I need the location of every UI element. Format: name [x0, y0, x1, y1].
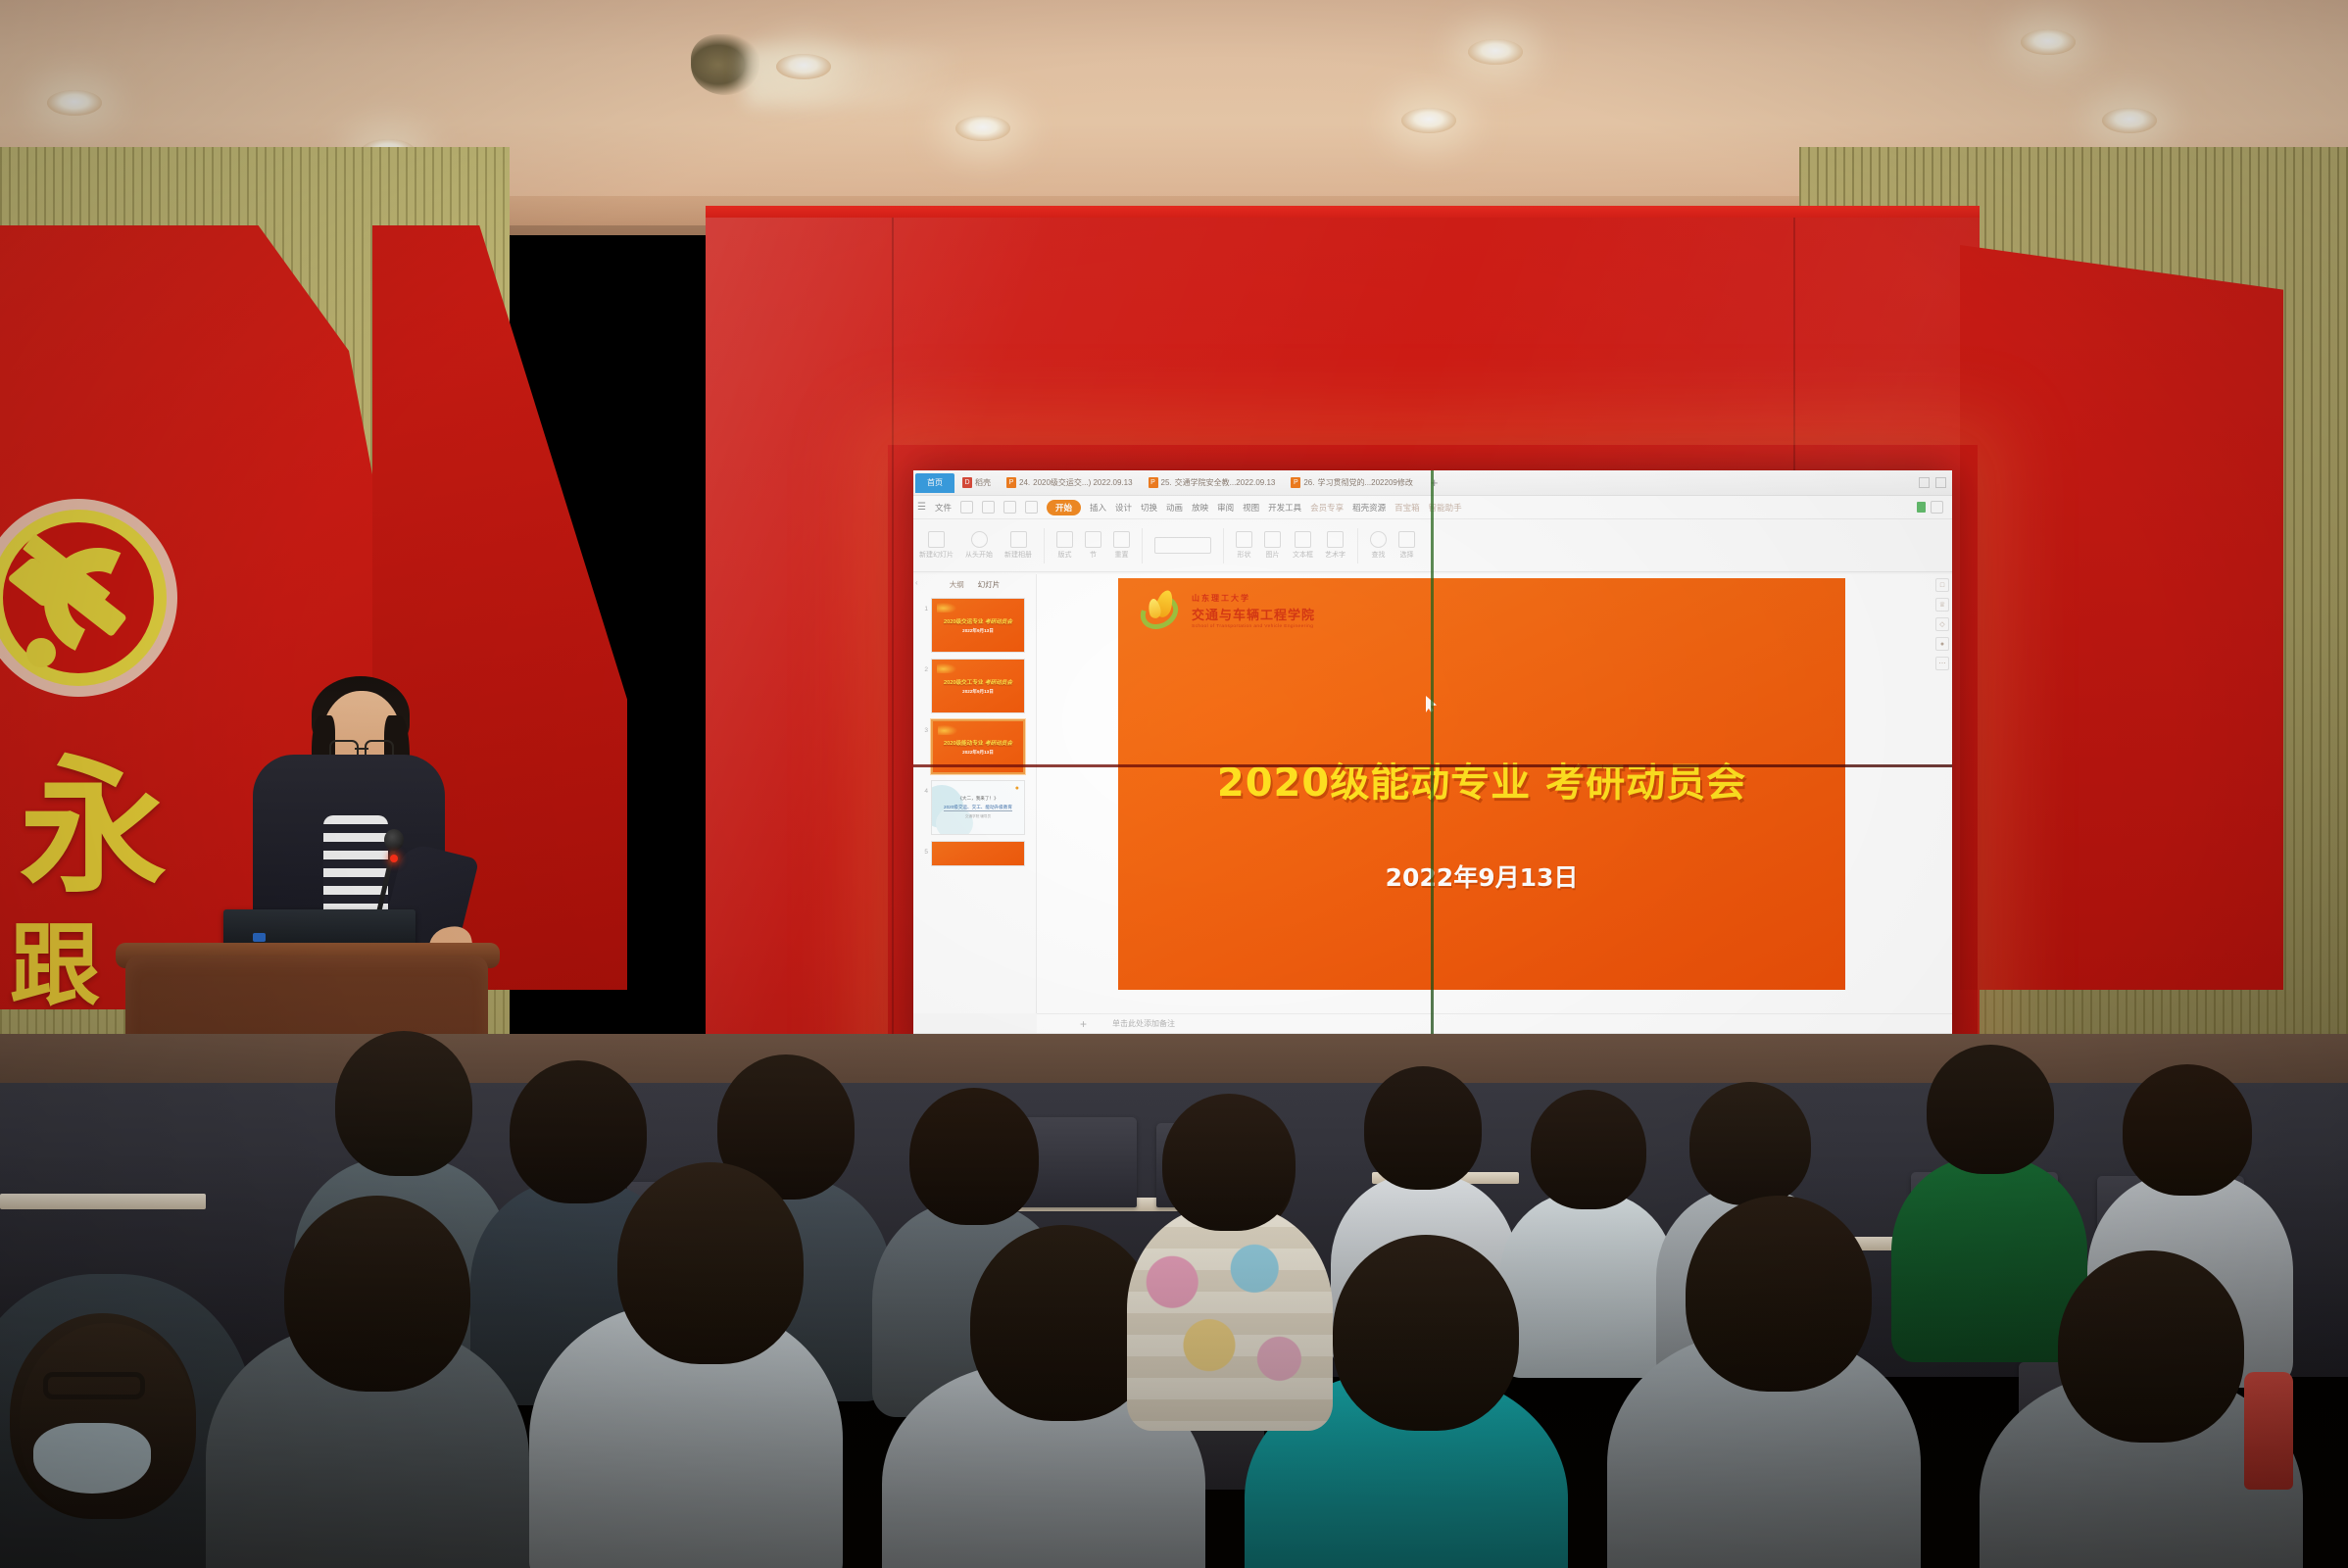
ribbon-label: 版式 — [1058, 550, 1072, 560]
right-tool-rail: □ ♕ ◇ ● ⋯ — [1935, 578, 1949, 670]
audience-torso — [1499, 1192, 1676, 1378]
new-tab-button[interactable]: + — [1421, 475, 1448, 490]
tab-title: 2020级交运交...) 2022.09.13 — [1033, 477, 1132, 488]
thumbnail-line-2: 2020级交运、交工、能动升级教育 — [944, 805, 1012, 811]
menu-tab-slideshow[interactable]: 放映 — [1192, 502, 1208, 514]
window-controls — [1919, 477, 1952, 488]
thumbnail-title: 2020级能动专业 考研动员会 — [944, 739, 1012, 747]
audience-head — [1689, 1082, 1811, 1205]
menu-tab-design[interactable]: 设计 — [1115, 502, 1132, 514]
undo-icon[interactable] — [982, 501, 995, 514]
add-note-button[interactable]: + — [1080, 1017, 1087, 1031]
ribbon-label: 图片 — [1266, 550, 1280, 560]
logo-text-block: 山东理工大学 交通与车辆工程学院 School of Transportatio… — [1192, 593, 1315, 629]
ribbon-group-select[interactable]: 选择 — [1398, 531, 1415, 560]
ribbon-divider — [1357, 528, 1358, 563]
ribbon-group-layout[interactable]: 版式 — [1056, 531, 1073, 560]
ribbon-group-wordart[interactable]: 艺术字 — [1325, 531, 1345, 560]
thumbnail-date: 2022年9月13日 — [962, 628, 994, 634]
thumbnail-item[interactable]: 2 2020级交工专业 考研动员会 2022年9月13日 — [913, 656, 1036, 716]
laptop-screen-glow — [253, 933, 266, 942]
slide-date-text[interactable]: 2022年9月13日 — [1118, 858, 1845, 894]
thumbnail-line-1: 《大二，我来了！》 — [957, 796, 998, 802]
slide-thumbnail[interactable] — [931, 841, 1025, 866]
menu-tab-animation[interactable]: 动画 — [1166, 502, 1183, 514]
desk-row-edge — [0, 1194, 206, 1209]
ppt-file-icon: P — [1006, 477, 1016, 488]
thumbnail-title-main: 2020级交运专业 — [944, 619, 983, 625]
new-slide-icon — [928, 531, 945, 548]
audience-torso — [1891, 1156, 2087, 1362]
tab-number: 26. — [1303, 478, 1314, 487]
slide-thumbnail[interactable]: 2020级交运专业 考研动员会 2022年9月13日 — [931, 598, 1025, 653]
menu-file[interactable]: 文件 — [935, 502, 952, 514]
thumbnail-pane-tabs: 大纲 幻灯片 — [913, 576, 1036, 595]
school-name-cn: 交通与车辆工程学院 — [1192, 605, 1315, 623]
audience-head-front — [2058, 1250, 2244, 1443]
thumbnail-line-3: 交通学院 辅导员 — [965, 814, 991, 819]
menu-tab-member[interactable]: 会员专享 — [1310, 502, 1344, 514]
thumbnail-item[interactable]: 4 ● 《大二，我来了！》 2020级交运、交工、能动升级教育 交通学院 辅导员 — [913, 777, 1036, 838]
downlight-icon — [2021, 29, 2076, 55]
select-icon — [1398, 531, 1415, 548]
ppt-file-icon: P — [1291, 477, 1300, 488]
ribbon-label: 文本框 — [1293, 550, 1313, 560]
slide-editor-canvas[interactable]: 山东理工大学 交通与车辆工程学院 School of Transportatio… — [1037, 574, 1952, 1013]
sickle-handle-shape — [26, 638, 56, 667]
thumbnail-number: 2 — [922, 659, 928, 673]
wps-document-tab[interactable]: P 24. 2020级交运交...) 2022.09.13 — [999, 472, 1141, 494]
slide-thumbnail-pane[interactable]: ‹ 大纲 幻灯片 1 2020级交运专业 考研动员会 — [913, 574, 1037, 1013]
torch-ring-logo-icon — [1140, 590, 1187, 631]
shield-icon[interactable] — [1917, 502, 1926, 513]
ribbon-divider — [1142, 528, 1143, 563]
slide-thumbnail[interactable]: ● 《大二，我来了！》 2020级交运、交工、能动升级教育 交通学院 辅导员 — [931, 780, 1025, 835]
audience-head — [1364, 1066, 1482, 1190]
audience-glasses — [43, 1372, 145, 1399]
tab-slides[interactable]: 幻灯片 — [978, 579, 1001, 590]
lecture-hall-photo: 永 跟 首页 D 稻壳 P 24. 2020级交运交...) 2022.09.1… — [0, 0, 2348, 1568]
thumbnail-title-em: 考研动员会 — [985, 741, 1012, 747]
docer-icon: D — [962, 477, 972, 488]
thumbnail-item[interactable]: 5 — [913, 838, 1036, 869]
menu-tab-home[interactable]: 开始 — [1047, 500, 1081, 515]
audience-head-front — [1333, 1235, 1519, 1431]
ribbon-group-from-start[interactable]: 从头开始 — [965, 531, 993, 560]
downlight-icon — [1401, 108, 1456, 133]
downlight-icon — [2102, 108, 2157, 133]
print-preview-icon[interactable] — [1025, 501, 1038, 514]
more-tools-icon[interactable]: ⋯ — [1935, 657, 1949, 670]
menu-tab-transition[interactable]: 切换 — [1141, 502, 1157, 514]
audience-head — [1927, 1045, 2054, 1174]
collapse-pane-icon[interactable]: ‹ — [915, 578, 918, 587]
screen-surface: 首页 D 稻壳 P 24. 2020级交运交...) 2022.09.13 P … — [913, 470, 1952, 1058]
ribbon-group-new-slide[interactable]: 新建幻灯片 — [919, 531, 954, 560]
audience-head — [909, 1088, 1039, 1225]
tab-title: 学习贯彻党的...202209修改 — [1317, 477, 1412, 488]
ribbon-label: 节 — [1090, 550, 1097, 560]
menubar-right-cluster — [1917, 501, 1948, 514]
maximize-icon[interactable] — [1935, 477, 1946, 488]
thumbnail-date: 2022年9月13日 — [962, 750, 994, 756]
school-logo-icon — [938, 724, 959, 735]
thumbnail-item-selected[interactable]: 3 2020级能动专业 考研动员会 2022年9月13日 — [913, 716, 1036, 777]
audience-head-front — [1686, 1196, 1872, 1392]
ribbon-divider — [1223, 528, 1224, 563]
audience-head — [510, 1060, 647, 1203]
menu-tab-view[interactable]: 视图 — [1243, 502, 1259, 514]
wps-home-tab[interactable]: 首页 — [915, 473, 954, 493]
wall-seam — [892, 218, 894, 1139]
crown-member-icon[interactable]: ♕ — [1935, 598, 1949, 612]
audience-head-front — [284, 1196, 470, 1392]
ribbon-label: 形状 — [1238, 550, 1251, 560]
ribbon-label: 艺术字 — [1325, 550, 1345, 560]
menu-tab-docer[interactable]: 稻壳资源 — [1352, 502, 1386, 514]
wps-brand-tab[interactable]: D 稻壳 — [954, 472, 999, 494]
thumbnail-title-em: 考研动员会 — [985, 619, 1012, 625]
thumbnail-title: 2020级交运专业 考研动员会 — [944, 617, 1012, 625]
color-pane-icon[interactable]: ● — [1935, 637, 1949, 651]
thumbnail-number: 1 — [922, 598, 928, 612]
picture-icon — [1264, 531, 1281, 548]
ribbon-label: 新建幻灯片 — [919, 550, 954, 560]
school-logo-icon: ● — [1015, 785, 1019, 792]
audience-head — [1162, 1094, 1296, 1231]
thumbnail-title-main: 2020级能动专业 — [944, 741, 983, 747]
tab-title: 交通学院安全教...2022.09.13 — [1175, 477, 1276, 488]
downlight-icon — [955, 116, 1010, 141]
glasses-bridge — [355, 748, 368, 750]
microphone-icon — [384, 829, 404, 851]
ribbon-group-textbox[interactable]: 文本框 — [1293, 531, 1313, 560]
menu-tab-review[interactable]: 审阅 — [1217, 502, 1234, 514]
audience-head-front — [617, 1162, 804, 1364]
ribbon-group-new-album[interactable]: 新建相册 — [1004, 531, 1032, 560]
ribbon-label: 重置 — [1115, 550, 1129, 560]
school-logo-icon — [937, 602, 958, 612]
downlight-icon — [776, 54, 831, 79]
thumbnail-number: 4 — [922, 780, 928, 795]
thumbnail-date: 2022年9月13日 — [962, 689, 994, 695]
downlight-icon — [47, 90, 102, 116]
section-icon — [1085, 531, 1101, 548]
play-icon — [971, 531, 988, 548]
red-wall-right-wing — [1960, 245, 2283, 990]
thumbnail-item[interactable]: 1 2020级交运专业 考研动员会 2022年9月13日 — [913, 595, 1036, 656]
wps-document-tab[interactable]: P 25. 交通学院安全教...2022.09.13 — [1141, 472, 1284, 494]
school-logo-icon — [937, 662, 958, 673]
search-icon — [1370, 531, 1387, 548]
drink-bottle — [2244, 1372, 2293, 1490]
ribbon-label: 选择 — [1400, 550, 1414, 560]
thumbnail-number: 3 — [922, 719, 928, 734]
ribbon-divider — [1044, 528, 1045, 563]
format-pane-icon[interactable]: □ — [1935, 578, 1949, 592]
thumbnail-number: 5 — [922, 841, 928, 856]
ribbon-group-reset[interactable]: 重置 — [1113, 531, 1130, 560]
textbox-icon — [1295, 531, 1311, 548]
calligraphy-char-1: 永 — [20, 755, 167, 902]
menu-tab-developer[interactable]: 开发工具 — [1268, 502, 1301, 514]
save-icon[interactable] — [960, 501, 973, 514]
wps-brand-label: 稻壳 — [975, 477, 991, 488]
ppt-file-icon: P — [1149, 477, 1158, 488]
font-name-dropdown — [1154, 537, 1211, 554]
album-icon — [1010, 531, 1027, 548]
tab-number: 25. — [1161, 478, 1172, 487]
downlight-icon — [1468, 39, 1523, 65]
ribbon-label: 查找 — [1372, 550, 1386, 560]
tab-number: 24. — [1019, 478, 1030, 487]
current-slide[interactable]: 山东理工大学 交通与车辆工程学院 School of Transportatio… — [1118, 578, 1845, 990]
ribbon-label: 从头开始 — [965, 550, 993, 560]
thumbnail-title: 2020级交工专业 考研动员会 — [944, 678, 1012, 686]
slide-school-logo: 山东理工大学 交通与车辆工程学院 School of Transportatio… — [1140, 590, 1315, 631]
menu-tab-toolbox[interactable]: 百宝箱 — [1394, 502, 1420, 514]
notes-bar[interactable]: + 单击此处添加备注 — [1037, 1013, 1952, 1033]
tab-outline[interactable]: 大纲 — [950, 579, 964, 590]
audience-head — [335, 1031, 472, 1176]
ribbon-group-picture[interactable]: 图片 — [1264, 531, 1281, 560]
reset-icon — [1113, 531, 1130, 548]
slide-thumbnail[interactable]: 2020级交工专业 考研动员会 2022年9月13日 — [931, 659, 1025, 713]
hamburger-menu-icon[interactable]: ☰ — [917, 502, 926, 513]
slide-title-text[interactable]: 2020级能动专业 考研动员会 — [1118, 751, 1845, 808]
audience-head — [1531, 1090, 1646, 1209]
shape-icon — [1236, 531, 1252, 548]
spotlight-beam — [745, 47, 960, 106]
share-icon[interactable] — [1931, 501, 1943, 514]
menu-tab-insert[interactable]: 插入 — [1090, 502, 1106, 514]
face-mask-icon — [33, 1423, 151, 1494]
audience-head — [2123, 1064, 2252, 1196]
ribbon-group-shape[interactable]: 形状 — [1236, 531, 1252, 560]
thumbnail-title-main: 2020级交工专业 — [944, 680, 983, 686]
microphone-led — [390, 855, 398, 862]
ribbon-label: 新建相册 — [1004, 550, 1032, 560]
redo-icon[interactable] — [1003, 501, 1016, 514]
thumbnail-title-em: 考研动员会 — [985, 680, 1012, 686]
wps-document-tab[interactable]: P 26. 学习贯彻党的...202209修改 — [1283, 472, 1421, 494]
wordart-icon — [1327, 531, 1344, 548]
university-name-cn: 山东理工大学 — [1192, 593, 1315, 604]
video-wall-screen: 首页 D 稻壳 P 24. 2020级交运交...) 2022.09.13 P … — [913, 470, 1952, 1058]
shapes-pane-icon[interactable]: ◇ — [1935, 617, 1949, 631]
minimize-icon[interactable] — [1919, 477, 1930, 488]
ribbon-group-font[interactable] — [1154, 537, 1211, 554]
ribbon-group-find[interactable]: 查找 — [1370, 531, 1387, 560]
screen-bezel-horizontal — [913, 764, 1952, 767]
school-name-en: School of Transportation and Vehicle Eng… — [1192, 624, 1315, 629]
layout-icon — [1056, 531, 1073, 548]
notes-placeholder[interactable]: 单击此处添加备注 — [1112, 1018, 1175, 1029]
calligraphy-char-2: 跟 — [10, 921, 100, 1011]
ribbon-group-section[interactable]: 节 — [1085, 531, 1101, 560]
audience-torso-cat-print — [1127, 1205, 1333, 1431]
